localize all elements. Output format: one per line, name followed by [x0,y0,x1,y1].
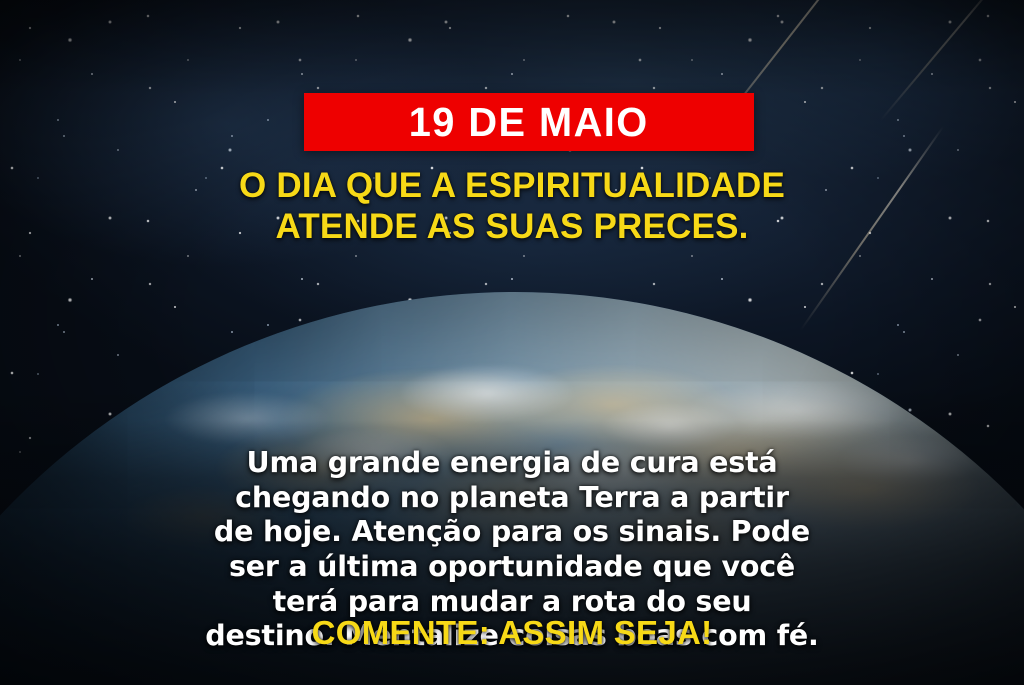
body-line-4: ser a última oportunidade que você [52,550,972,585]
body-line-2: chegando no planeta Terra a partir [52,481,972,516]
headline: O DIA QUE A ESPIRITUALIDADE ATENDE AS SU… [0,166,1024,248]
date-banner: 19 DE MAIO [304,93,754,151]
body-line-1: Uma grande energia de cura está [52,446,972,481]
poster-canvas: 19 DE MAIO O DIA QUE A ESPIRITUALIDADE A… [0,0,1024,685]
headline-line-2: ATENDE AS SUAS PRECES. [40,207,984,248]
date-banner-label: 19 DE MAIO [409,102,649,143]
poster-content: 19 DE MAIO O DIA QUE A ESPIRITUALIDADE A… [0,0,1024,685]
call-to-action-text: COMENTE: ASSIM SEJA! [0,614,1024,652]
body-line-3: de hoje. Atenção para os sinais. Pode [52,515,972,550]
headline-line-1: O DIA QUE A ESPIRITUALIDADE [40,166,984,207]
